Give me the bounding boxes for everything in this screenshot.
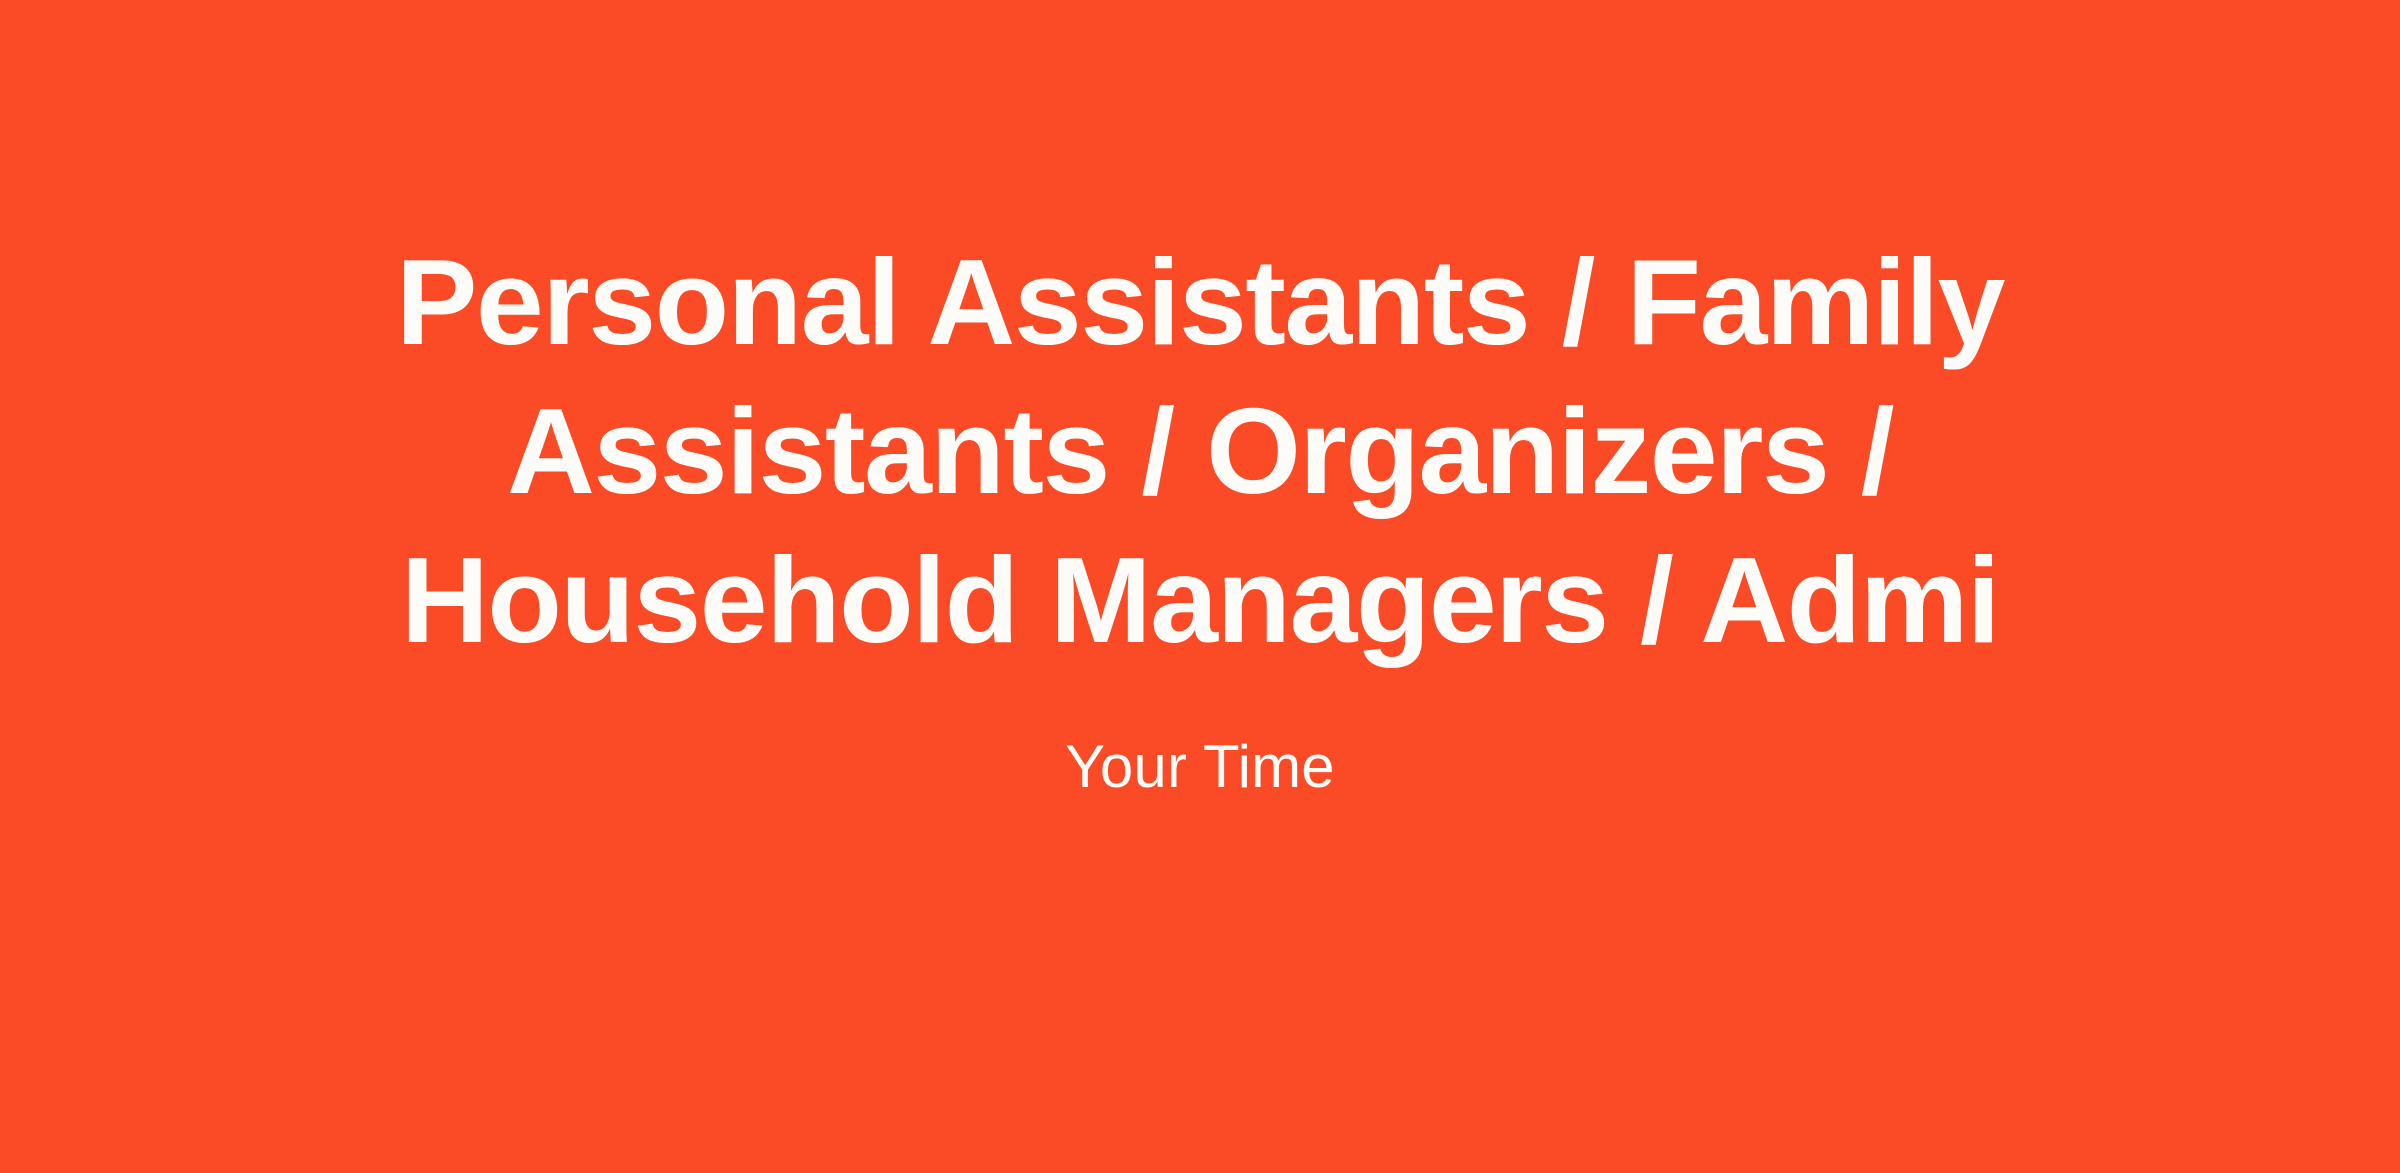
page-title: Personal Assistants / Family Assistants … xyxy=(350,228,2050,675)
share-card: Personal Assistants / Family Assistants … xyxy=(0,0,2400,1173)
card-subtitle: Your Time xyxy=(1065,731,1335,803)
card-content: Personal Assistants / Family Assistants … xyxy=(300,228,2100,803)
